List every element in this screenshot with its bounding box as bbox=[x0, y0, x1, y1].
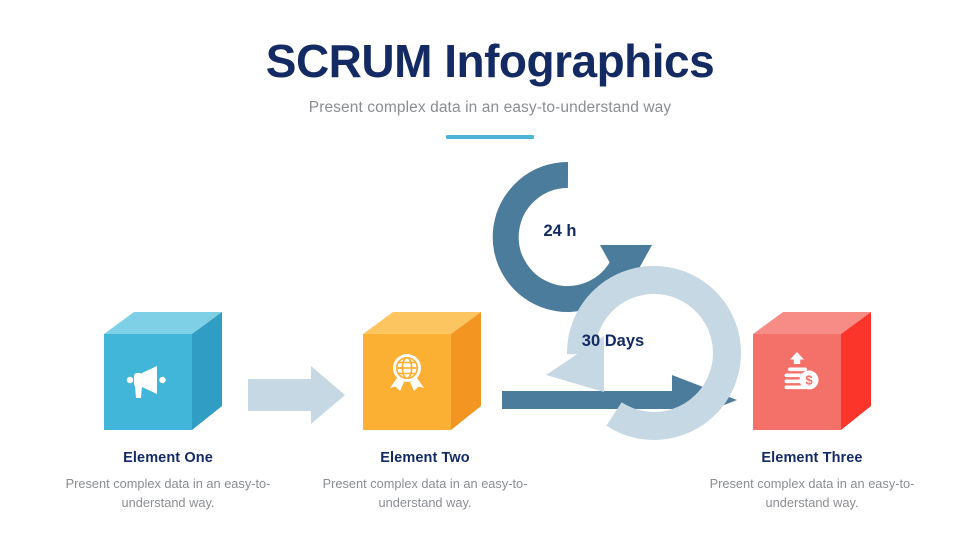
element-one-caption: Element One Present complex data in an e… bbox=[48, 450, 288, 512]
element-two-description: Present complex data in an easy-to-under… bbox=[305, 475, 545, 512]
element-two-caption: Element Two Present complex data in an e… bbox=[305, 450, 545, 512]
element-three-caption: Element Three Present complex data in an… bbox=[692, 450, 932, 512]
arrow-one-to-two bbox=[248, 366, 345, 424]
diagram-stage: $ 24 h bbox=[0, 0, 980, 551]
cycle-30days-label: 30 Days bbox=[582, 332, 644, 350]
element-one-cube[interactable] bbox=[104, 312, 222, 430]
element-three-cube[interactable] bbox=[753, 312, 871, 430]
element-one-title: Element One bbox=[48, 450, 288, 466]
element-one-description: Present complex data in an easy-to-under… bbox=[48, 475, 288, 512]
infographic-slide: SCRUM Infographics Present complex data … bbox=[0, 0, 980, 551]
element-three-title: Element Three bbox=[692, 450, 932, 466]
element-two-cube[interactable] bbox=[363, 312, 481, 430]
element-three-description: Present complex data in an easy-to-under… bbox=[692, 475, 932, 512]
element-two-title: Element Two bbox=[305, 450, 545, 466]
cycle-24h-label: 24 h bbox=[543, 222, 576, 240]
